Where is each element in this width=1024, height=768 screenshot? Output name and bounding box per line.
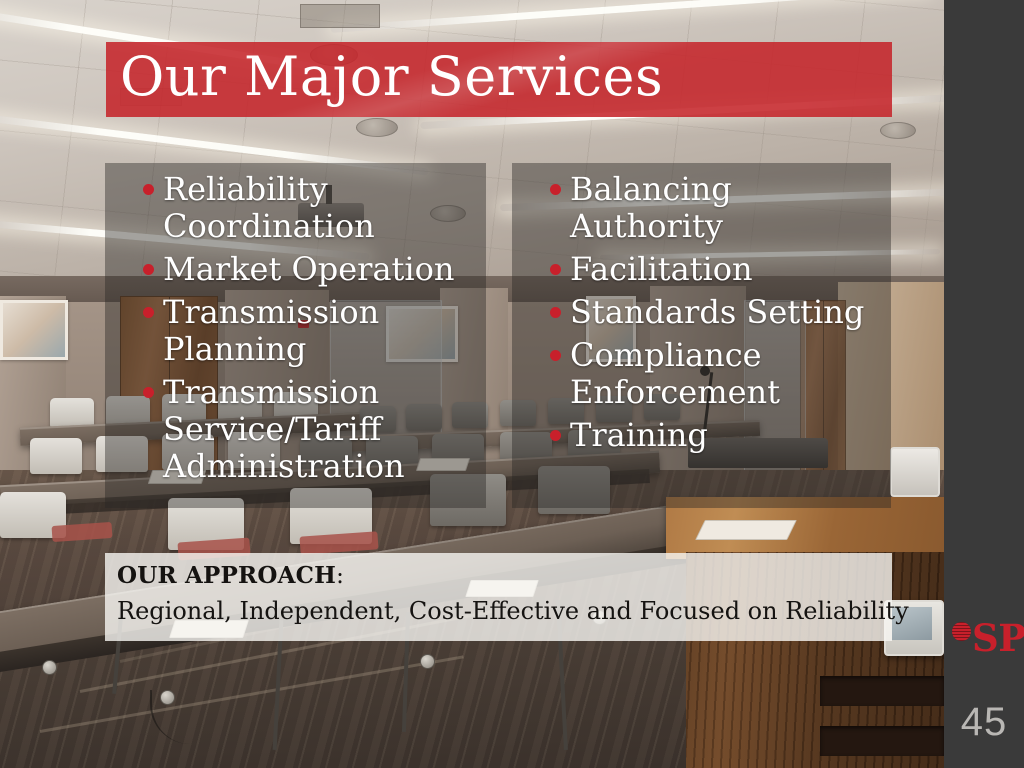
wall-art xyxy=(0,300,68,360)
spp-globe-icon xyxy=(952,622,971,641)
table-caster xyxy=(420,654,435,669)
bullet-dot-icon xyxy=(550,430,561,441)
chair xyxy=(50,398,94,428)
list-item-label: Market Operation xyxy=(163,250,455,288)
bullet-dot-icon xyxy=(550,184,561,195)
list-item: Standards Setting xyxy=(512,294,891,331)
bullet-dot-icon xyxy=(550,307,561,318)
list-item-label: Facilitation xyxy=(570,250,753,288)
list-item: Reliability Coordination xyxy=(105,171,486,245)
list-item: Transmission Service/Tariff Administrati… xyxy=(105,374,486,485)
services-list-right: Balancing Authority Facilitation Standar… xyxy=(512,163,891,460)
list-item-label: Balancing Authority xyxy=(570,170,732,245)
slide-sidebar: SPP 45 xyxy=(944,0,1024,768)
list-item-label: Reliability Coordination xyxy=(163,170,375,245)
page-title: Our Major Services xyxy=(120,45,663,108)
bullet-dot-icon xyxy=(550,350,561,361)
chair xyxy=(30,438,82,474)
list-item-label: Transmission Planning xyxy=(163,293,379,368)
spp-logo-text: SPP xyxy=(972,620,1024,657)
bullet-dot-icon xyxy=(143,264,154,275)
ceiling-speaker xyxy=(880,122,916,139)
approach-banner: OUR APPROACH: Regional, Independent, Cos… xyxy=(105,553,892,641)
list-item: Balancing Authority xyxy=(512,171,891,245)
list-item: Training xyxy=(512,417,891,454)
bullet-dot-icon xyxy=(143,387,154,398)
approach-colon: : xyxy=(336,563,344,589)
list-item: Transmission Planning xyxy=(105,294,486,368)
list-item: Facilitation xyxy=(512,251,891,288)
services-panel-right: Balancing Authority Facilitation Standar… xyxy=(512,163,891,508)
table-caster xyxy=(42,660,57,675)
approach-label-text: OUR APPROACH xyxy=(117,562,336,589)
list-item: Compliance Enforcement xyxy=(512,337,891,411)
bullet-dot-icon xyxy=(143,184,154,195)
control-tablet xyxy=(890,447,940,497)
slide-number: 45 xyxy=(944,700,1024,745)
title-banner: Our Major Services xyxy=(106,42,892,117)
paper-sheet xyxy=(695,520,797,540)
podium-shelf xyxy=(820,726,944,756)
approach-text: Regional, Independent, Cost-Effective an… xyxy=(117,597,909,625)
presentation-slide: SPP 45 Our Major Services Reliability Co… xyxy=(0,0,1024,768)
bullet-dot-icon xyxy=(550,264,561,275)
list-item-label: Compliance Enforcement xyxy=(570,336,780,411)
spp-logo: SPP xyxy=(952,620,1024,657)
bullet-dot-icon xyxy=(143,307,154,318)
list-item-label: Training xyxy=(570,416,708,454)
ceiling-speaker xyxy=(356,118,398,137)
approach-label: OUR APPROACH: xyxy=(117,562,344,589)
ceiling-vent xyxy=(300,4,380,28)
services-list-left: Reliability Coordination Market Operatio… xyxy=(105,163,486,491)
list-item: Market Operation xyxy=(105,251,486,288)
services-panel-left: Reliability Coordination Market Operatio… xyxy=(105,163,486,508)
list-item-label: Transmission Service/Tariff Administrati… xyxy=(163,373,405,485)
list-item-label: Standards Setting xyxy=(570,293,864,331)
podium-shelf xyxy=(820,676,944,706)
